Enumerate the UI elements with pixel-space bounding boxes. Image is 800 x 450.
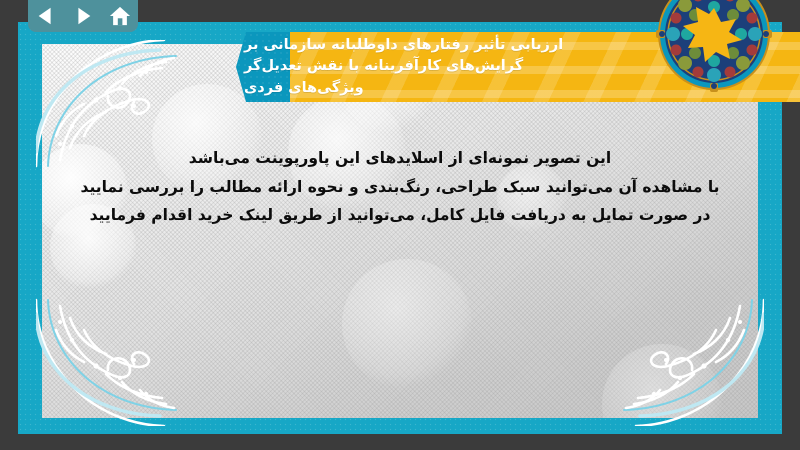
back-triangle-icon[interactable] [35,5,57,27]
forward-triangle-icon[interactable] [72,5,94,27]
body-line-3: در صورت تمایل به دریافت فایل کامل، می‌تو… [52,201,748,230]
body-line-1: این تصویر نمونه‌ای از اسلایدهای این پاور… [52,144,748,173]
slide-viewer: این تصویر نمونه‌ای از اسلایدهای این پاور… [0,0,800,450]
navigation-toolbar [28,0,138,32]
title-line-1: ارزیابی تأثیر رفتارهای داوطلبانه سازمانی… [244,35,563,56]
bokeh-circle [602,344,722,418]
title-line-2: گرایش‌های کارآفرینانه با نقش تعدیل‌گر [244,56,523,77]
body-line-2: با مشاهده آن می‌توانید سبک طراحی، رنگ‌بن… [52,173,748,202]
mandala-medallion-icon [656,0,772,92]
home-icon[interactable] [109,5,131,27]
bokeh-circle [342,259,472,389]
title-line-3: ویژگی‌های فردی [244,78,364,99]
slide-body-text: این تصویر نمونه‌ای از اسلایدهای این پاور… [52,144,748,230]
